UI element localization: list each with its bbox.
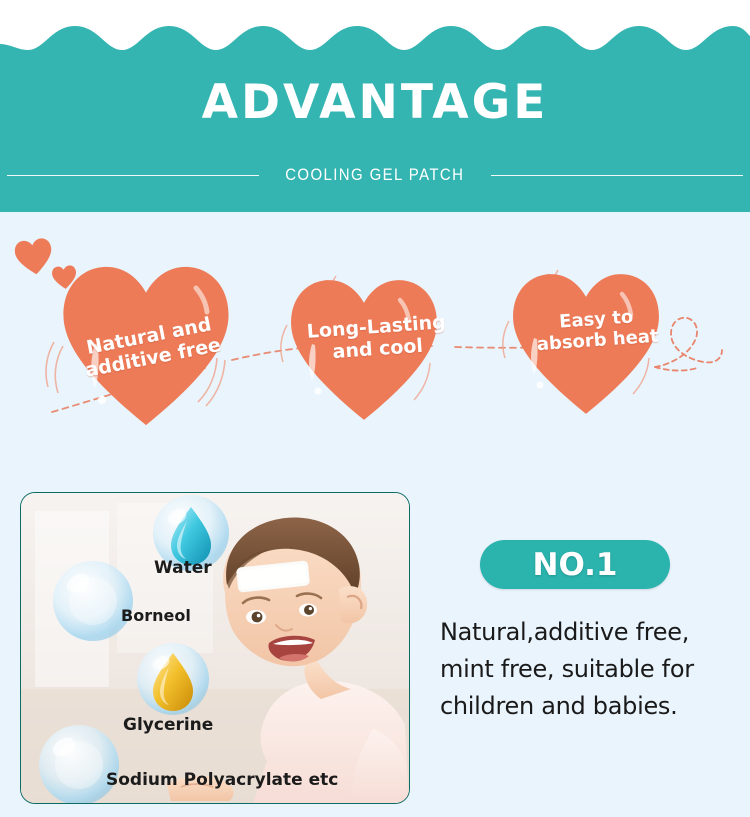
advantages-section: Natural and additive free Long-Lasting a… [0, 212, 750, 474]
advertisement-page: ADVANTAGE COOLING GEL PATCH [0, 0, 750, 817]
product-photo-card[interactable]: Water Borneol Glycerine Sodium Polyacryl… [20, 492, 410, 804]
highlight-description: Natural,additive free, mint free, suitab… [440, 614, 732, 724]
page-title: ADVANTAGE [0, 77, 750, 129]
subtitle-rule-right [491, 175, 743, 176]
no1-badge[interactable]: NO.1 [480, 540, 670, 589]
ingredient-label-glycerine: Glycerine [123, 715, 213, 735]
ingredient-label-water: Water [154, 558, 212, 578]
header-subtitle: COOLING GEL PATCH [285, 165, 464, 185]
ingredient-bubble-borneol [53, 561, 133, 641]
ingredient-label-borneol: Borneol [121, 606, 191, 625]
advantage-heart-3[interactable] [513, 274, 659, 414]
small-heart-icon [14, 237, 78, 290]
ingredient-bubble-sodium [39, 725, 119, 803]
advantages-graphics [0, 212, 750, 474]
subtitle-rule-left [7, 175, 259, 176]
no1-badge-label: NO.1 [533, 547, 618, 583]
highlight-description-line2: mint free, suitable for [440, 651, 732, 687]
header-banner: ADVANTAGE COOLING GEL PATCH [0, 0, 750, 212]
ingredient-label-sodium-polyacrylate: Sodium Polyacrylate etc [106, 770, 338, 790]
baby-with-cooling-gel-patch-photo [21, 493, 409, 803]
dashed-heart-swirl-icon [655, 318, 722, 371]
header-subtitle-row: COOLING GEL PATCH [0, 161, 750, 189]
highlight-description-line3: children and babies. [440, 688, 732, 724]
highlight-panel: NO.1 Natural,additive free, mint free, s… [440, 540, 732, 725]
ingredient-bubble-glycerine [137, 643, 209, 715]
highlight-description-line1: Natural,additive free, [440, 614, 732, 650]
